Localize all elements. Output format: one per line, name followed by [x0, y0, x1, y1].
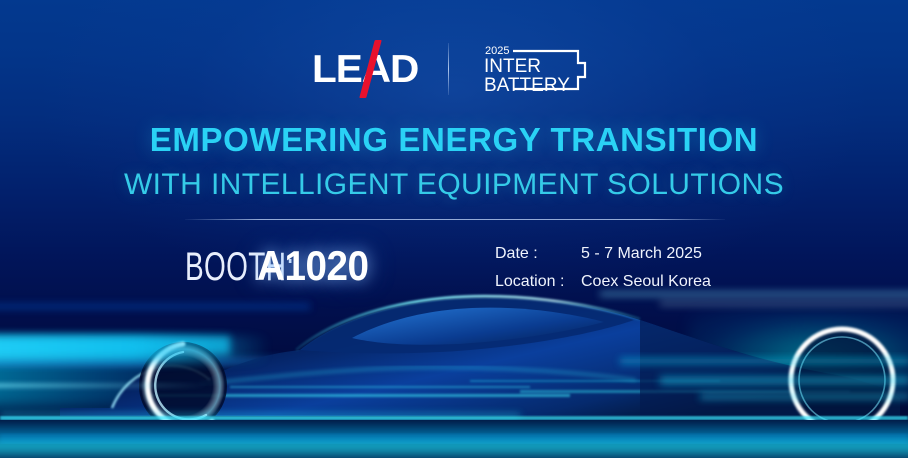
section-divider	[185, 219, 725, 220]
road-glow	[0, 418, 908, 458]
headline-block: EMPOWERING ENERGY TRANSITION WITH INTELL…	[0, 122, 908, 201]
interbattery-line1-text: INTER	[484, 56, 541, 77]
logo-row: LEAD 2025 INTER BATTERY	[0, 38, 908, 100]
interbattery-logo-svg: 2025 INTER BATTERY	[483, 41, 591, 99]
logo-divider	[448, 43, 449, 95]
interbattery-line2-text: BATTERY	[484, 75, 570, 96]
lead-logo: LEAD	[318, 44, 414, 94]
headline-main: EMPOWERING ENERGY TRANSITION	[0, 122, 908, 159]
left-thin-streak	[0, 383, 210, 388]
event-banner: LEAD 2025 INTER BATTERY EMPOWERING ENERG…	[0, 0, 908, 458]
headline-sub: WITH INTELLIGENT EQUIPMENT SOLUTIONS	[0, 168, 908, 201]
car-scene	[0, 258, 908, 458]
interbattery-logo: 2025 INTER BATTERY	[483, 41, 591, 97]
left-bright-streak	[0, 336, 270, 362]
